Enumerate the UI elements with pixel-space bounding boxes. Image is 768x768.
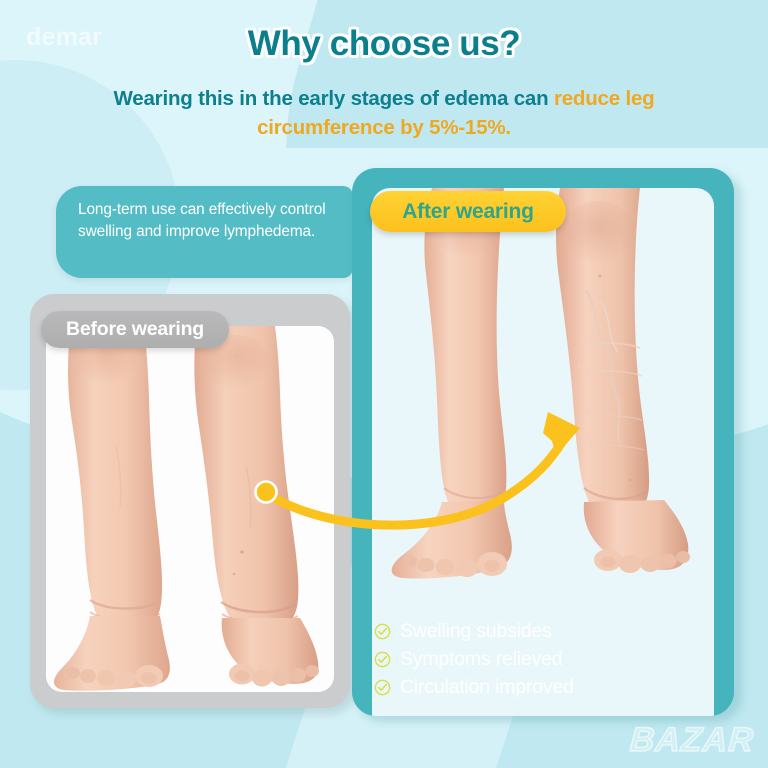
page-subtitle: Wearing this in the early stages of edem…	[64, 84, 704, 142]
benefit-label: Swelling subsides	[400, 620, 552, 643]
list-item: Swelling subsides	[374, 620, 722, 643]
before-photo	[46, 326, 334, 692]
check-circle-icon	[374, 651, 391, 668]
slim-legs-illustration	[372, 188, 714, 618]
after-wearing-badge: After wearing	[370, 191, 566, 232]
before-wearing-badge: Before wearing	[41, 311, 229, 348]
check-circle-icon	[374, 623, 391, 640]
benefits-list: Swelling subsides Symptoms relieved Circ…	[374, 620, 722, 704]
longterm-note-bubble: Long-term use can effectively control sw…	[56, 186, 353, 278]
benefit-label: Symptoms relieved	[400, 648, 562, 671]
list-item: Circulation improved	[374, 676, 722, 699]
list-item: Symptoms relieved	[374, 648, 722, 671]
before-panel	[30, 294, 350, 708]
longterm-note-text: Long-term use can effectively control sw…	[78, 199, 339, 243]
benefit-label: Circulation improved	[400, 676, 574, 699]
subtitle-plain-text: Wearing this in the early stages of edem…	[114, 87, 554, 110]
check-circle-icon	[374, 679, 391, 696]
poster-canvas: demar Why choose us? Wearing this in the…	[0, 0, 768, 768]
after-panel: Swelling subsides Symptoms relieved Circ…	[352, 168, 734, 716]
page-title: Why choose us?	[0, 24, 768, 64]
marketplace-watermark: BAZAR	[629, 721, 756, 760]
swollen-legs-illustration	[46, 326, 334, 692]
